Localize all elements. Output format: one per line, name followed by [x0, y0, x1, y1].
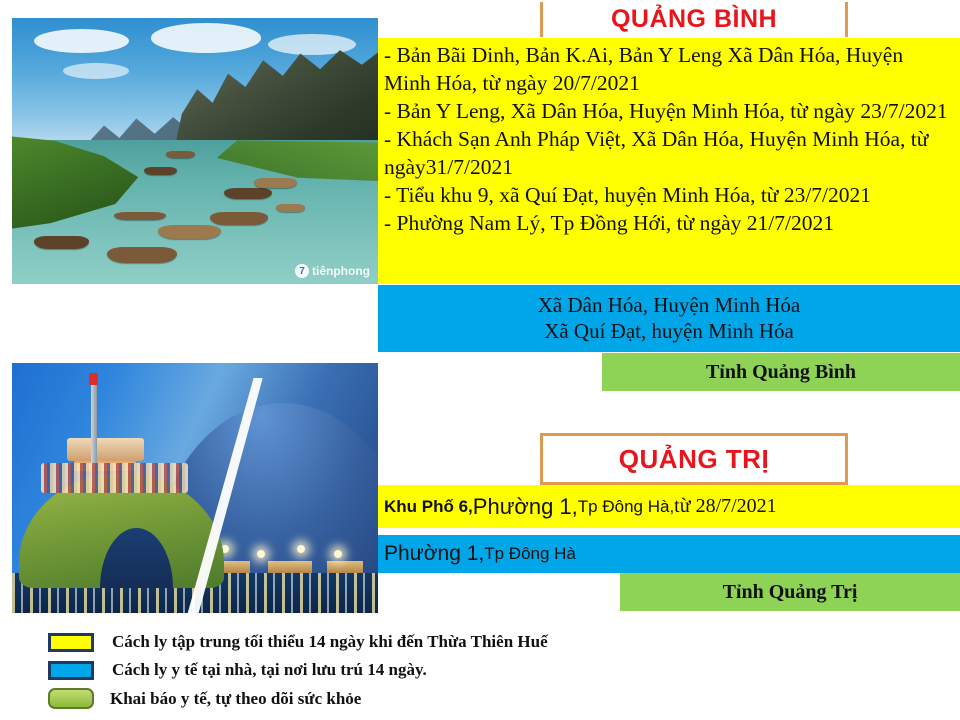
- legend-row-health-declaration: Khai báo y tế, tự theo dõi sức khỏe: [48, 688, 361, 709]
- quang-tri-declaration-area: Tỉnh Quảng Trị: [620, 573, 960, 611]
- flag-icon: [89, 373, 98, 385]
- boat: [144, 167, 177, 175]
- quang-tri-photo: [12, 363, 378, 613]
- crowd: [41, 463, 187, 493]
- quang-tri-quarantine-list: Khu Phố 6, Phường 1, Tp Đông Hà, từ 28/7…: [378, 485, 960, 528]
- location-line: - Khách Sạn Anh Pháp Việt, Xã Dân Hóa, H…: [384, 126, 954, 182]
- legend-label: Cách ly y tế tại nhà, tại nơi lưu trú 14…: [112, 660, 427, 680]
- legend-row-home-isolation: Cách ly y tế tại nhà, tại nơi lưu trú 14…: [48, 660, 427, 680]
- legend-swatch-blue: [48, 661, 94, 680]
- province-title-quang-tri: QUẢNG TRỊ: [540, 433, 848, 485]
- photo-watermark: 7 tiênphong: [295, 264, 370, 278]
- quang-binh-quarantine-list: - Bản Bãi Dinh, Bản K.Ai, Bản Y Leng Xã …: [378, 38, 960, 284]
- cloud-icon: [151, 23, 261, 52]
- province-title-text: QUẢNG TRỊ: [619, 444, 769, 475]
- boat: [254, 178, 298, 189]
- watermark-logo-icon: 7: [295, 264, 309, 278]
- location-line: - Phường Nam Lý, Tp Đồng Hới, từ ngày 21…: [384, 210, 954, 238]
- monument-platform: [67, 438, 144, 461]
- location-line: Xã Dân Hóa, Huyện Minh Hóa: [538, 293, 800, 319]
- province-title-text: QUẢNG BÌNH: [611, 5, 777, 34]
- location-run: Phường 1,: [384, 542, 484, 566]
- boat: [114, 212, 165, 220]
- location-line: - Tiểu khu 9, xã Quí Đạt, huyện Minh Hóa…: [384, 182, 954, 210]
- lit-building: [327, 561, 364, 574]
- location-run: Tp Đông Hà: [484, 544, 576, 564]
- location-run: Khu Phố 6,: [384, 497, 473, 517]
- boat: [210, 212, 269, 225]
- location-line: - Bản Y Leng, Xã Dân Hóa, Huyện Minh Hóa…: [384, 98, 954, 126]
- cloud-icon: [34, 29, 129, 53]
- boat: [34, 236, 89, 249]
- location-line: Xã Quí Đạt, huyện Minh Hóa: [544, 319, 794, 345]
- legend-label: Khai báo y tế, tự theo dõi sức khỏe: [110, 689, 361, 709]
- quang-binh-declaration-area: Tỉnh Quảng Bình: [602, 353, 960, 391]
- legend-label: Cách ly tập trung tối thiểu 14 ngày khi …: [112, 632, 548, 652]
- legend: Cách ly tập trung tối thiểu 14 ngày khi …: [48, 630, 688, 720]
- legend-row-quarantine-center: Cách ly tập trung tối thiểu 14 ngày khi …: [48, 632, 548, 652]
- quang-binh-photo: 7 tiênphong: [12, 18, 378, 284]
- location-run: từ 28/7/2021: [674, 495, 777, 518]
- location-line: Tỉnh Quảng Trị: [723, 581, 858, 604]
- location-run: Phường 1,: [473, 494, 578, 520]
- location-run: Tp Đông Hà,: [578, 497, 674, 517]
- legend-swatch-yellow: [48, 633, 94, 652]
- boat: [158, 225, 220, 238]
- province-title-quang-binh: QUẢNG BÌNH: [540, 2, 848, 37]
- boat: [276, 204, 305, 212]
- poster-canvas: 7 tiênphong QUẢNG BÌNH - Bản Bãi Dinh, B…: [0, 0, 960, 720]
- location-line: Tỉnh Quảng Bình: [706, 361, 856, 384]
- watermark-text: tiênphong: [312, 264, 370, 278]
- boat: [166, 151, 195, 158]
- cloud-icon: [268, 34, 356, 55]
- quang-tri-home-isolation-list: Phường 1, Tp Đông Hà: [378, 535, 960, 573]
- boat: [224, 188, 272, 199]
- location-line: - Bản Bãi Dinh, Bản K.Ai, Bản Y Leng Xã …: [384, 42, 954, 98]
- lit-building: [268, 561, 312, 574]
- legend-swatch-green: [48, 688, 94, 709]
- boat: [107, 247, 177, 263]
- quang-binh-home-isolation-list: Xã Dân Hóa, Huyện Minh Hóa Xã Quí Đạt, h…: [378, 285, 960, 352]
